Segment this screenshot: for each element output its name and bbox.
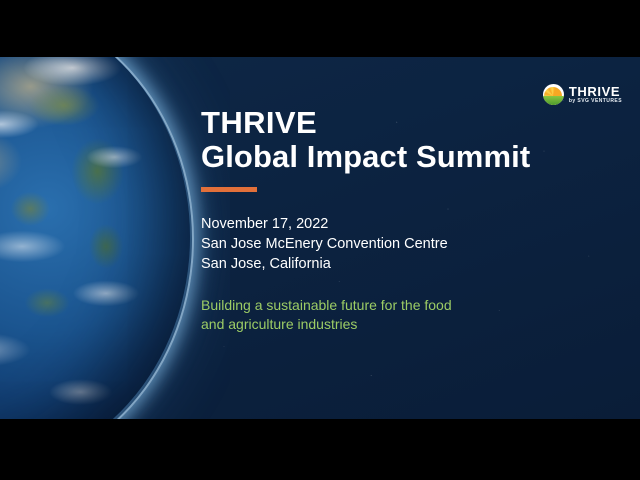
field-arc-icon — [543, 96, 564, 105]
page-title-primary: THRIVE — [201, 106, 621, 139]
event-date: November 17, 2022 — [201, 214, 621, 234]
brand-subtitle: by SVG VENTURES — [569, 99, 622, 104]
accent-divider — [201, 187, 257, 192]
earth-atmosphere-limb — [0, 57, 194, 419]
tagline-line-1: Building a sustainable future for the fo… — [201, 296, 621, 316]
event-details: November 17, 2022 San Jose McEnery Conve… — [201, 214, 621, 274]
event-tagline: Building a sustainable future for the fo… — [201, 296, 621, 335]
brand-name: THRIVE — [569, 85, 622, 98]
event-venue: San Jose McEnery Convention Centre — [201, 234, 621, 254]
video-frame: THRIVE by SVG VENTURES THRIVE Global Imp… — [0, 0, 640, 480]
presentation-slide: THRIVE by SVG VENTURES THRIVE Global Imp… — [0, 57, 640, 419]
letterbox-bar-bottom — [0, 419, 640, 480]
page-title-secondary: Global Impact Summit — [201, 139, 621, 174]
tagline-line-2: and agriculture industries — [201, 315, 621, 335]
brand-wordmark: THRIVE by SVG VENTURES — [569, 85, 622, 104]
sunrise-field-circle-icon — [543, 84, 564, 105]
letterbox-bar-top — [0, 0, 640, 57]
earth-image — [0, 57, 230, 419]
event-city: San Jose, California — [201, 254, 621, 274]
thrive-brand-logo: THRIVE by SVG VENTURES — [543, 84, 622, 105]
